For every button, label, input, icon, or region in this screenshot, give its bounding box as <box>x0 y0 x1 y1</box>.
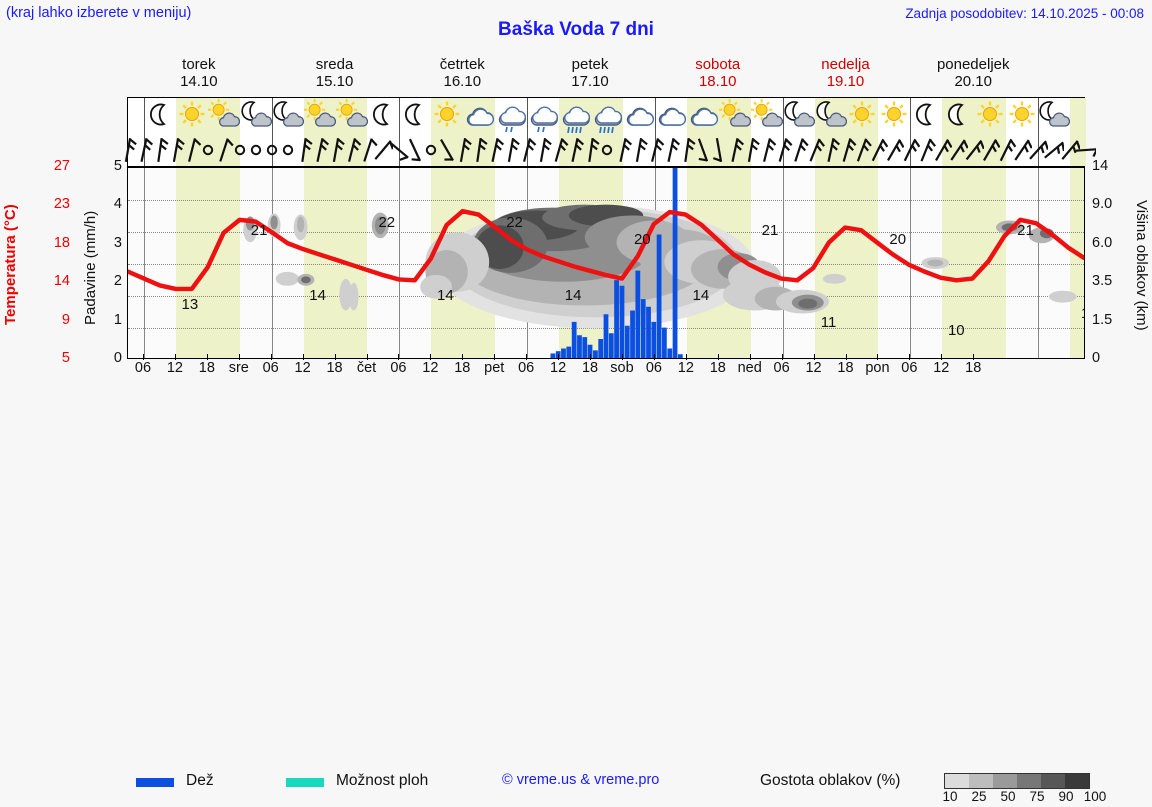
cloud-density-tick: 100 <box>1084 789 1107 804</box>
temperature-extreme-label: 21 <box>1017 222 1034 239</box>
time-axis-labels: 061218sre061218čet061218pet061218sob0612… <box>127 360 1085 380</box>
sun-cloud-icon <box>751 99 783 133</box>
temperature-extreme-label: 13 <box>182 296 199 313</box>
day-name: torek <box>182 57 215 74</box>
cloud-icon <box>623 99 655 133</box>
day-header-torek: torek14.10 <box>127 52 271 96</box>
moon-icon <box>910 99 942 133</box>
day-name: petek <box>572 57 609 74</box>
cloud-height-tick: 6.0 <box>1092 235 1126 251</box>
time-tick-mark <box>718 354 719 360</box>
time-tick-mark <box>143 354 144 360</box>
page-title: Baška Voda 7 dni <box>0 19 1152 41</box>
moon-icon <box>399 99 431 133</box>
day-date: 15.10 <box>316 74 354 91</box>
cloud-drizzle-icon <box>527 99 559 133</box>
sun-icon <box>846 99 878 133</box>
time-tick-mark <box>430 354 431 360</box>
sun-cloud-icon <box>208 99 240 133</box>
forecast-plot: 132114221422142014211120102112 <box>127 167 1085 359</box>
temperature-extreme-label: 21 <box>762 222 779 239</box>
day-date: 19.10 <box>827 74 865 91</box>
day-date: 20.10 <box>954 74 992 91</box>
cloud-density-tick: 75 <box>1029 789 1044 804</box>
cloud-icon <box>655 99 687 133</box>
time-tick-mark <box>622 354 623 360</box>
temperature-tick: 9 <box>36 312 70 328</box>
cloud-density-tick: 50 <box>1000 789 1015 804</box>
day-date: 16.10 <box>444 74 482 91</box>
temperature-curve-layer <box>128 168 1084 358</box>
cloud-icon <box>463 99 495 133</box>
time-tick-label: ned <box>738 360 762 376</box>
precipitation-axis-title: Padavine (mm/h) <box>82 178 106 358</box>
temperature-tick: 23 <box>36 196 70 212</box>
weather-icon-row <box>128 99 1084 135</box>
moon-icon <box>367 99 399 133</box>
legend-label-rain: Dež <box>186 772 214 790</box>
day-header-četrtek: četrtek16.10 <box>398 52 526 96</box>
copyright-link[interactable]: © vreme.us & vreme.pro <box>502 772 659 788</box>
time-tick-mark <box>271 354 272 360</box>
cloud-height-tick: 0 <box>1092 350 1126 366</box>
day-name: nedelja <box>821 57 869 74</box>
temperature-tick: 27 <box>36 158 70 174</box>
sun-icon <box>974 99 1006 133</box>
time-tick-label: 12 <box>550 360 566 376</box>
time-tick-mark <box>909 354 910 360</box>
time-tick-mark <box>750 354 751 360</box>
cloud-density-step <box>1065 774 1089 788</box>
temperature-extreme-label: 14 <box>309 287 326 304</box>
day-header-ponedeljek: ponedeljek20.10 <box>909 52 1037 96</box>
time-tick-label: 12 <box>422 360 438 376</box>
sun-cloud-icon <box>304 99 336 133</box>
precipitation-tick: 0 <box>104 350 122 366</box>
time-tick-mark <box>846 354 847 360</box>
cloud-height-tick: 3.5 <box>1092 273 1126 289</box>
day-header-sobota: sobota18.10 <box>654 52 782 96</box>
cloud-height-tick: 14 <box>1092 158 1126 174</box>
time-tick-label: 06 <box>774 360 790 376</box>
cloud-icon <box>687 99 719 133</box>
day-name: četrtek <box>440 57 485 74</box>
time-tick-label: 18 <box>582 360 598 376</box>
cloud-rain-icon <box>591 99 623 133</box>
cloud-density-legend-title: Gostota oblakov (%) <box>760 772 900 790</box>
cloud-density-colorbar-ticks: 1025507590100 <box>938 789 1098 807</box>
time-tick-mark <box>941 354 942 360</box>
time-tick-label: 18 <box>199 360 215 376</box>
time-tick-mark <box>686 354 687 360</box>
temperature-extreme-label: 14 <box>437 287 454 304</box>
cloud-density-step <box>1017 774 1041 788</box>
temperature-extreme-label: 22 <box>506 214 523 231</box>
time-tick-label: 18 <box>710 360 726 376</box>
cloud-height-tick: 1.5 <box>1092 312 1126 328</box>
time-tick-label: pon <box>865 360 889 376</box>
day-date: 18.10 <box>699 74 737 91</box>
time-tick-mark <box>367 354 368 360</box>
temperature-line <box>128 211 1084 289</box>
cloud-density-step <box>993 774 1017 788</box>
temperature-extreme-label: 11 <box>821 314 837 331</box>
temperature-tick: 5 <box>36 350 70 366</box>
time-tick-label: sre <box>229 360 249 376</box>
precipitation-tick: 1 <box>104 312 122 328</box>
moon-cloud-icon <box>1038 99 1070 133</box>
time-tick-mark <box>398 354 399 360</box>
day-header-row: torek14.10sreda15.10četrtek16.10petek17.… <box>127 52 1085 96</box>
time-tick-mark <box>239 354 240 360</box>
time-tick-label: sob <box>610 360 633 376</box>
moon-cloud-icon <box>783 99 815 133</box>
time-tick-mark <box>814 354 815 360</box>
time-tick-label: 06 <box>518 360 534 376</box>
wind-barb-row <box>128 134 1084 167</box>
cloud-density-tick: 90 <box>1058 789 1073 804</box>
cloud-density-step <box>1041 774 1065 788</box>
time-tick-label: 06 <box>135 360 151 376</box>
time-tick-mark <box>590 354 591 360</box>
cloud-density-step <box>969 774 993 788</box>
cloud-height-axis-title: Višina oblakov (km) <box>1126 170 1150 360</box>
time-tick-label: 12 <box>805 360 821 376</box>
time-tick-mark <box>494 354 495 360</box>
day-header-sreda: sreda15.10 <box>271 52 399 96</box>
legend-swatch-showers <box>286 778 324 787</box>
time-tick-mark <box>175 354 176 360</box>
precipitation-tick: 2 <box>104 273 122 289</box>
time-tick-label: 12 <box>167 360 183 376</box>
moon-icon <box>144 99 176 133</box>
time-tick-mark <box>973 354 974 360</box>
legend-swatch-rain <box>136 778 174 787</box>
legend: Dež Možnost ploh © vreme.us & vreme.pro … <box>0 386 1152 436</box>
temperature-extreme-label: 14 <box>692 287 709 304</box>
temperature-tick: 18 <box>36 235 70 251</box>
moon-cloud-icon <box>815 99 847 133</box>
day-header-nedelja: nedelja19.10 <box>782 52 910 96</box>
precipitation-tick: 5 <box>104 158 122 174</box>
cloud-drizzle-icon <box>495 99 527 133</box>
time-tick-label: 12 <box>933 360 949 376</box>
time-tick-label: pet <box>484 360 504 376</box>
day-name: ponedeljek <box>937 57 1010 74</box>
legend-label-showers: Možnost ploh <box>336 772 428 790</box>
sun-icon <box>176 99 208 133</box>
temperature-extreme-label: 12 <box>1081 305 1085 322</box>
cloud-density-tick: 25 <box>971 789 986 804</box>
temperature-tick: 14 <box>36 273 70 289</box>
time-tick-mark <box>207 354 208 360</box>
cloud-density-tick: 10 <box>942 789 957 804</box>
time-tick-label: 18 <box>326 360 342 376</box>
sun-cloud-icon <box>719 99 751 133</box>
sun-icon <box>1006 99 1038 133</box>
time-tick-mark <box>335 354 336 360</box>
time-tick-label: 06 <box>646 360 662 376</box>
time-tick-mark <box>782 354 783 360</box>
sun-icon <box>431 99 463 133</box>
time-tick-label: 18 <box>454 360 470 376</box>
temperature-extreme-label: 21 <box>251 222 268 239</box>
temperature-extreme-label: 20 <box>889 231 906 248</box>
cloud-rain-icon <box>559 99 591 133</box>
time-tick-label: 06 <box>901 360 917 376</box>
moon-icon <box>942 99 974 133</box>
temperature-extreme-label: 22 <box>378 214 395 231</box>
time-tick-mark <box>303 354 304 360</box>
time-tick-label: 18 <box>837 360 853 376</box>
cloud-density-step <box>945 774 969 788</box>
temperature-extreme-label: 20 <box>634 231 651 248</box>
day-name: sreda <box>316 57 354 74</box>
time-tick-label: 12 <box>678 360 694 376</box>
day-date: 17.10 <box>571 74 609 91</box>
moon-cloud-icon <box>240 99 272 133</box>
time-tick-mark <box>462 354 463 360</box>
moon-cloud-icon <box>272 99 304 133</box>
time-tick-mark <box>877 354 878 360</box>
precipitation-tick: 3 <box>104 235 122 251</box>
temperature-extreme-label: 14 <box>565 287 582 304</box>
time-tick-mark <box>526 354 527 360</box>
time-tick-mark <box>654 354 655 360</box>
temperature-axis-title: Temperatura (°C) <box>2 180 32 350</box>
cloud-height-tick: 9.0 <box>1092 196 1126 212</box>
sun-cloud-icon <box>336 99 368 133</box>
weather-icon-wind-band <box>127 97 1085 167</box>
time-tick-label: 18 <box>965 360 981 376</box>
time-tick-label: 06 <box>390 360 406 376</box>
cloud-density-colorbar <box>944 773 1090 789</box>
temperature-extreme-label: 10 <box>948 322 965 339</box>
time-tick-label: 06 <box>263 360 279 376</box>
day-name: sobota <box>695 57 740 74</box>
day-date: 14.10 <box>180 74 218 91</box>
time-tick-mark <box>558 354 559 360</box>
time-tick-label: čet <box>357 360 376 376</box>
last-update-label: Zadnja posodobitev: 14.10.2025 - 00:08 <box>905 6 1144 21</box>
day-header-petek: petek17.10 <box>526 52 654 96</box>
time-tick-label: 12 <box>295 360 311 376</box>
precipitation-tick: 4 <box>104 196 122 212</box>
sun-icon <box>878 99 910 133</box>
